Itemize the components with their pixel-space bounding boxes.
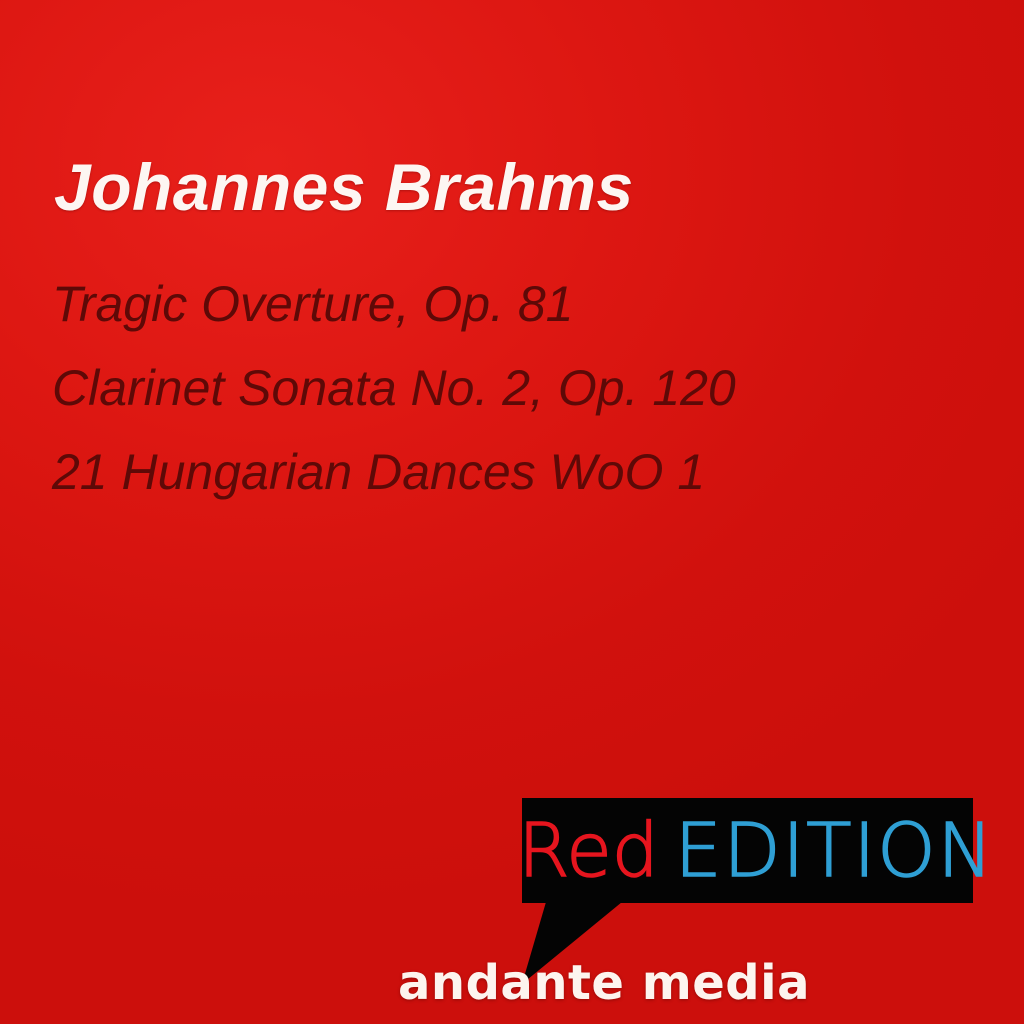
work-item: Tragic Overture, Op. 81 [52,262,952,346]
album-cover: Johannes Brahms Tragic Overture, Op. 81 … [0,0,1024,1024]
works-list: Tragic Overture, Op. 81 Clarinet Sonata … [52,262,952,514]
publisher-wordmark: andante media [398,959,810,1007]
red-edition-badge: Red EDITION [522,798,973,903]
composer-name: Johannes Brahms [54,154,634,220]
badge-word-edition: EDITION [675,814,995,888]
work-item: 21 Hungarian Dances WoO 1 [52,430,952,514]
badge-label: Red EDITION [522,798,973,903]
work-item: Clarinet Sonata No. 2, Op. 120 [52,346,952,430]
badge-word-red: Red [518,814,659,888]
